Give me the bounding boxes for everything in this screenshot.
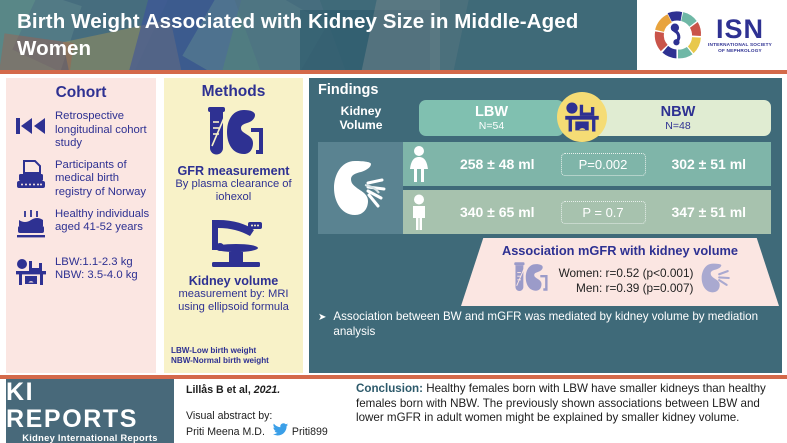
cohort-heading: Cohort — [6, 84, 156, 102]
footer: KI REPORTS Kidney International Reports … — [0, 379, 787, 443]
kidney-volume-method-title: Kidney volume — [164, 274, 303, 288]
methods-panel: Methods GFR measurement By plasma cleara… — [164, 78, 303, 373]
credit-name: Priti Meena M.D. — [186, 425, 265, 439]
credit-label: Visual abstract by: — [186, 409, 346, 423]
value-lbw-men: 340 ± 65 ml — [435, 204, 560, 220]
value-nbw-women: 302 ± 51 ml — [647, 156, 772, 172]
sex-icon-column — [403, 142, 435, 234]
rewind-icon — [14, 109, 48, 143]
group-header-lbw: LBW N=54 — [419, 100, 564, 136]
list-item: Participants of medical birth registry o… — [6, 158, 156, 200]
p-value-women: P=0.002 — [561, 153, 646, 176]
ki-reports-wordmark: KI REPORTS — [6, 379, 174, 433]
association-heading: Association mGFR with kidney volume — [502, 243, 738, 258]
list-item: Healthy individuals aged 41-52 years — [6, 207, 156, 241]
female-figure-icon — [403, 142, 435, 186]
ki-reports-subtitle: Kidney International Reports — [22, 433, 157, 443]
findings-bullet-text: Association between BW and mGFR was medi… — [333, 310, 773, 339]
findings-bullet: ➤ Association between BW and mGFR was me… — [318, 310, 773, 339]
isn-logo: ISN INTERNATIONAL SOCIETY OF NEPHROLOGY — [637, 0, 787, 70]
methods-heading: Methods — [164, 83, 303, 101]
list-item-label: Participants of medical birth registry o… — [55, 158, 150, 200]
list-item-label: Retrospective longitudinal cohort study — [55, 109, 150, 151]
kidney-icon — [318, 142, 403, 234]
association-women: Women: r=0.52 (p<0.001) — [559, 266, 694, 281]
association-callout: Association mGFR with kidney volume Wome… — [461, 238, 779, 306]
birthday-cake-icon — [14, 207, 48, 241]
gfr-method-title: GFR measurement — [164, 164, 303, 178]
abbr-lbw: LBW-Low birth weight — [171, 346, 269, 356]
test-tube-kidney-icon — [164, 104, 303, 162]
baby-scale-icon — [14, 255, 48, 289]
list-item-label: Healthy individuals aged 41-52 years — [55, 207, 150, 235]
cohort-panel: Cohort Retrospective longitudinal cohort… — [6, 78, 156, 373]
list-item: Retrospective longitudinal cohort study — [6, 109, 156, 151]
arrow-bullet-icon: ➤ — [318, 310, 326, 339]
conclusion-block: Conclusion: Healthy females born with LB… — [356, 382, 784, 426]
page-title: Birth Weight Associated with Kidney Size… — [17, 8, 637, 62]
kidney-volume-label: Kidney Volume — [323, 104, 399, 132]
typewriter-registry-icon — [14, 158, 48, 192]
kidney-vessels-icon — [699, 261, 733, 300]
association-men: Men: r=0.39 (p=0.007) — [559, 281, 694, 296]
isn-subtitle-line2: OF NEPHROLOGY — [718, 48, 762, 54]
value-nbw-men: 347 ± 51 ml — [647, 204, 772, 220]
abbreviation-note: LBW-Low birth weight NBW-Normal birth we… — [171, 346, 269, 366]
table-row: 258 ± 48 ml P=0.002 302 ± 51 ml — [435, 142, 771, 186]
citation-line: Lillås B et al, 2021. — [186, 383, 346, 397]
citation-author: Lillås B et al, — [186, 384, 251, 396]
group-header-nbw: NBW N=48 — [585, 100, 771, 136]
group-n-lbw: N=54 — [479, 120, 504, 132]
mri-scanner-icon — [164, 214, 303, 272]
test-tube-kidney-icon — [507, 260, 553, 301]
baby-weighing-scale-icon — [557, 92, 607, 142]
list-item: LBW:1.1-2.3 kg NBW: 3.5-4.0 kg — [6, 255, 156, 289]
value-lbw-women: 258 ± 48 ml — [435, 156, 560, 172]
list-item-label: LBW:1.1-2.3 kg NBW: 3.5-4.0 kg — [55, 255, 138, 283]
twitter-bird-icon[interactable] — [272, 423, 289, 441]
ki-reports-logo: KI REPORTS Kidney International Reports — [6, 379, 174, 443]
header: Birth Weight Associated with Kidney Size… — [0, 0, 787, 70]
group-name-nbw: NBW — [661, 104, 696, 120]
gfr-method-subtitle: By plasma clearance of iohexol — [164, 178, 303, 204]
isn-circular-logo-icon — [652, 9, 704, 61]
male-figure-icon — [403, 190, 435, 234]
kidney-volume-method-subtitle: measurement by: MRI using ellipsoid form… — [164, 288, 303, 314]
group-name-lbw: LBW — [475, 104, 508, 120]
visual-abstract-page: Birth Weight Associated with Kidney Size… — [0, 0, 787, 443]
divider-top — [0, 70, 787, 74]
twitter-handle[interactable]: Priti899 — [292, 425, 328, 439]
p-value-men: P = 0.7 — [561, 201, 646, 224]
findings-panel: Findings Kidney Volume LBW N=54 NBW N=48 — [309, 78, 782, 373]
table-row: 340 ± 65 ml P = 0.7 347 ± 51 ml — [435, 190, 771, 234]
conclusion-label: Conclusion: — [356, 382, 423, 395]
citation-block: Lillås B et al, 2021. Visual abstract by… — [186, 383, 346, 441]
findings-heading: Findings — [318, 82, 378, 98]
group-n-nbw: N=48 — [665, 120, 690, 132]
citation-year: 2021. — [254, 384, 281, 396]
abbr-nbw: NBW-Normal birth weight — [171, 356, 269, 366]
isn-wordmark: ISN — [716, 16, 764, 42]
